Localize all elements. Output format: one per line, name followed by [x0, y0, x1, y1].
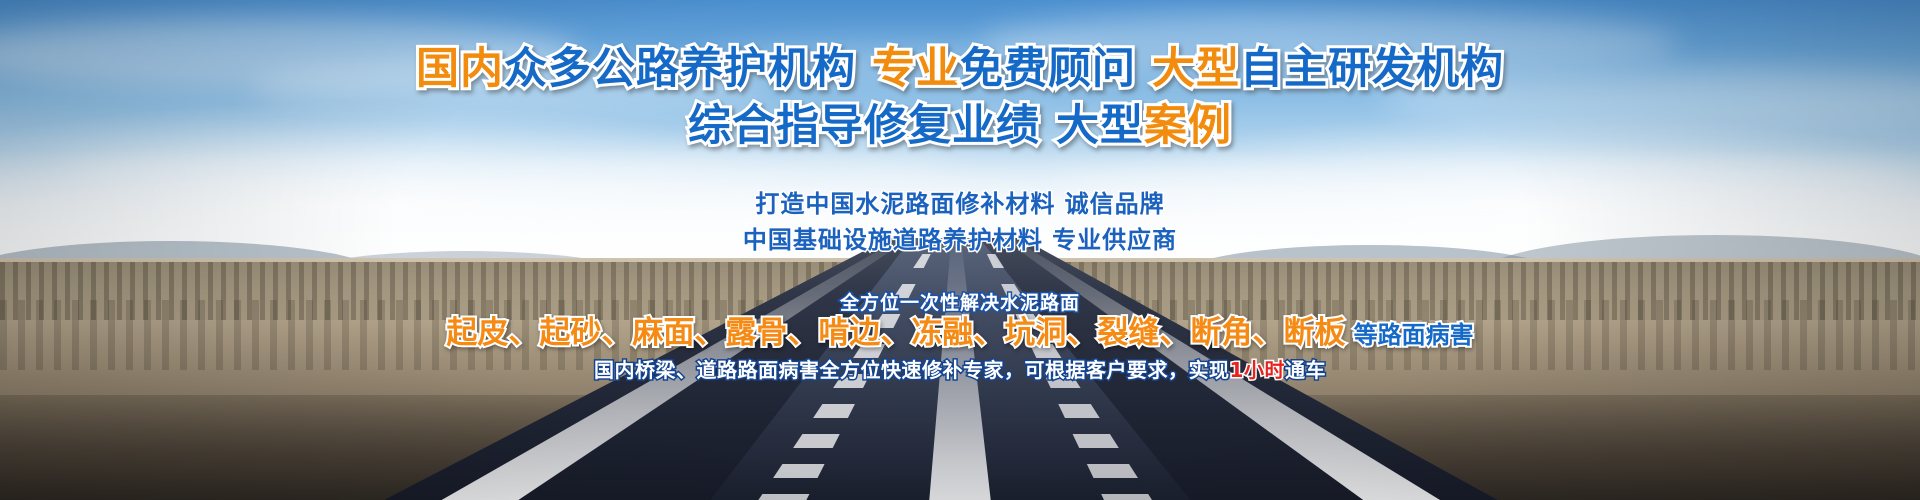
headline-seg-guidance: 综合指导修复业绩: [688, 101, 1040, 151]
highway-repair-promo-banner: 国内众多公路养护机构 专业免费顾问 大型自主研发机构 综合指导修复业绩 大型案例…: [0, 0, 1920, 500]
headline-seg-domestic: 国内: [416, 44, 504, 94]
defects-list-suffix: 等路面病害: [1345, 321, 1473, 349]
footer-claim-after: 通车: [1285, 358, 1326, 382]
headline-gap-1: [856, 44, 872, 94]
footer-claim: 国内桥梁、道路路面病害全方位快速修补专家，可根据客户要求，实现1小时通车: [594, 360, 1326, 380]
headline-seg-professional: 专业: [872, 44, 960, 94]
headline-line-2: 综合指导修复业绩 大型案例: [688, 105, 1232, 148]
headline-seg-free-consult: 免费顾问: [960, 44, 1136, 94]
headline-gap-2: [1136, 44, 1152, 94]
headline-seg-rnd: 自主研发机构: [1240, 44, 1504, 94]
defects-list: 起皮、起砂、麻面、露骨、啃边、冻融、坑洞、裂缝、断角、断板 等路面病害: [446, 318, 1473, 349]
headline-seg-large-scale: 大型: [1152, 44, 1240, 94]
subhead-line-2: 中国基础设施道路养护材料 专业供应商: [743, 228, 1177, 252]
headline-seg-agencies: 众多公路养护机构: [504, 44, 856, 94]
headline-seg-cases: 案例: [1144, 101, 1232, 151]
headline-gap-3: [1040, 101, 1056, 151]
subhead-line-1: 打造中国水泥路面修补材料 诚信品牌: [755, 192, 1164, 216]
defects-list-items: 起皮、起砂、麻面、露骨、啃边、冻融、坑洞、裂缝、断角、断板: [446, 315, 1345, 351]
headline-line-1: 国内众多公路养护机构 专业免费顾问 大型自主研发机构: [416, 48, 1504, 91]
footer-claim-highlight: 1小时: [1230, 358, 1285, 382]
defects-caption: 全方位一次性解决水泥路面: [840, 294, 1080, 313]
headline-seg-large: 大型: [1056, 101, 1144, 151]
footer-claim-before: 国内桥梁、道路路面病害全方位快速修补专家，可根据客户要求，实现: [594, 358, 1230, 382]
